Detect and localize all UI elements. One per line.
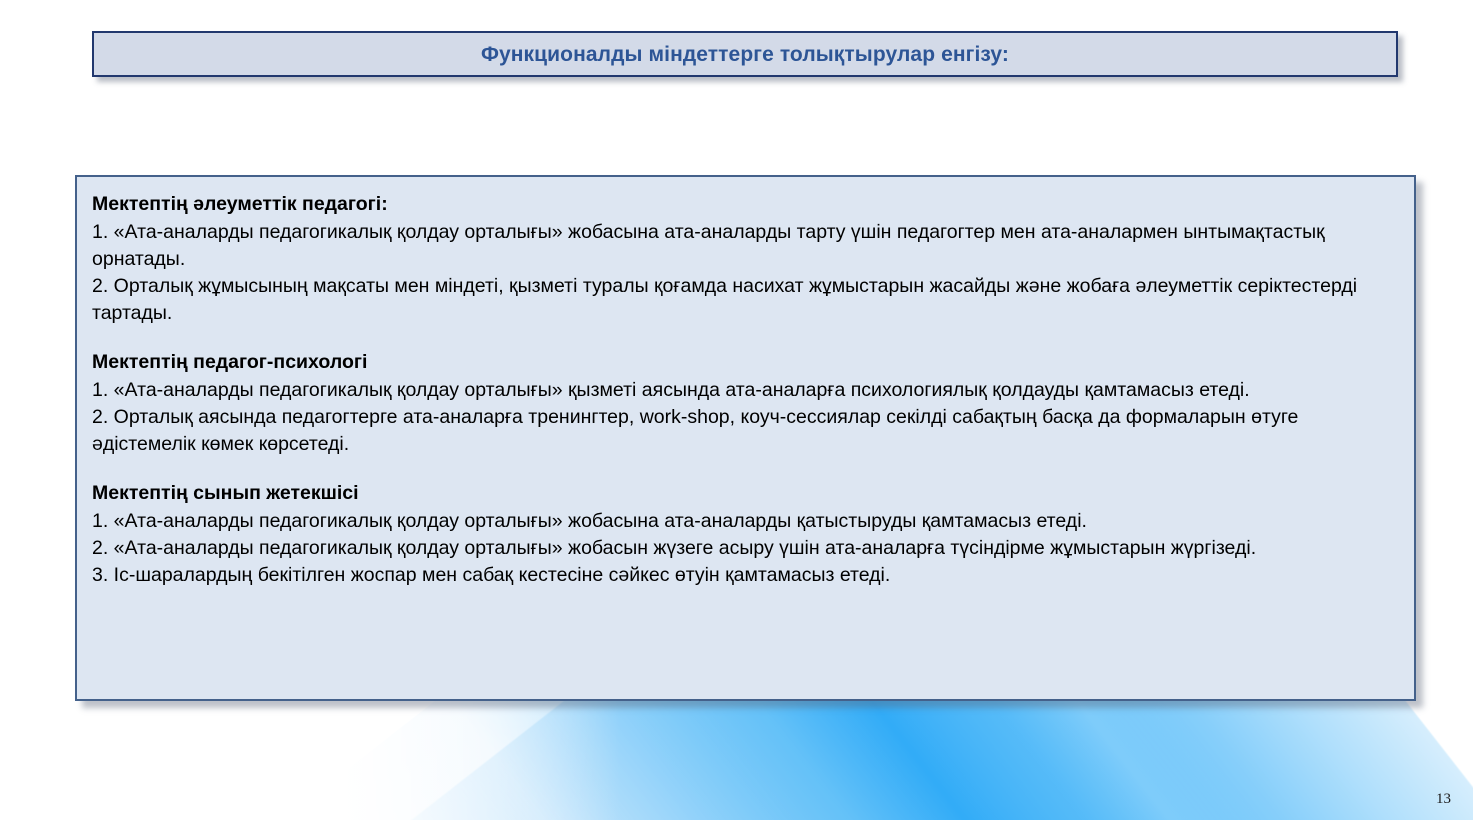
page-title: Функционалды міндеттерге толықтырулар ен… (481, 44, 1009, 65)
section-class-teacher: Мектептің сынып жетекшісі 1. «Ата-аналар… (92, 480, 1395, 589)
section-item: 1. «Ата-аналарды педагогикалық қолдау ор… (92, 377, 1395, 404)
slide-canvas: Функционалды міндеттерге толықтырулар ен… (0, 0, 1473, 820)
section-heading: Мектептің педагог-психологі (92, 349, 1395, 376)
content-panel: Мектептің әлеуметтік педагогі: 1. «Ата-а… (75, 175, 1416, 701)
section-heading: Мектептің сынып жетекшісі (92, 480, 1395, 507)
section-item: 3. Іс-шаралардың бекітілген жоспар мен с… (92, 562, 1395, 589)
section-psychologist: Мектептің педагог-психологі 1. «Ата-анал… (92, 349, 1395, 458)
section-heading: Мектептің әлеуметтік педагогі: (92, 191, 1395, 218)
section-social-pedagogue: Мектептің әлеуметтік педагогі: 1. «Ата-а… (92, 191, 1395, 327)
section-item: 2. Орталық аясында педагогтерге ата-анал… (92, 404, 1395, 458)
slide-title-banner: Функционалды міндеттерге толықтырулар ен… (92, 31, 1398, 77)
section-item: 2. «Ата-аналарды педагогикалық қолдау ор… (92, 535, 1395, 562)
section-item: 1. «Ата-аналарды педагогикалық қолдау ор… (92, 508, 1395, 535)
section-item: 2. Орталық жұмысының мақсаты мен міндеті… (92, 273, 1395, 327)
section-item: 1. «Ата-аналарды педагогикалық қолдау ор… (92, 219, 1395, 273)
page-number: 13 (1436, 791, 1451, 808)
